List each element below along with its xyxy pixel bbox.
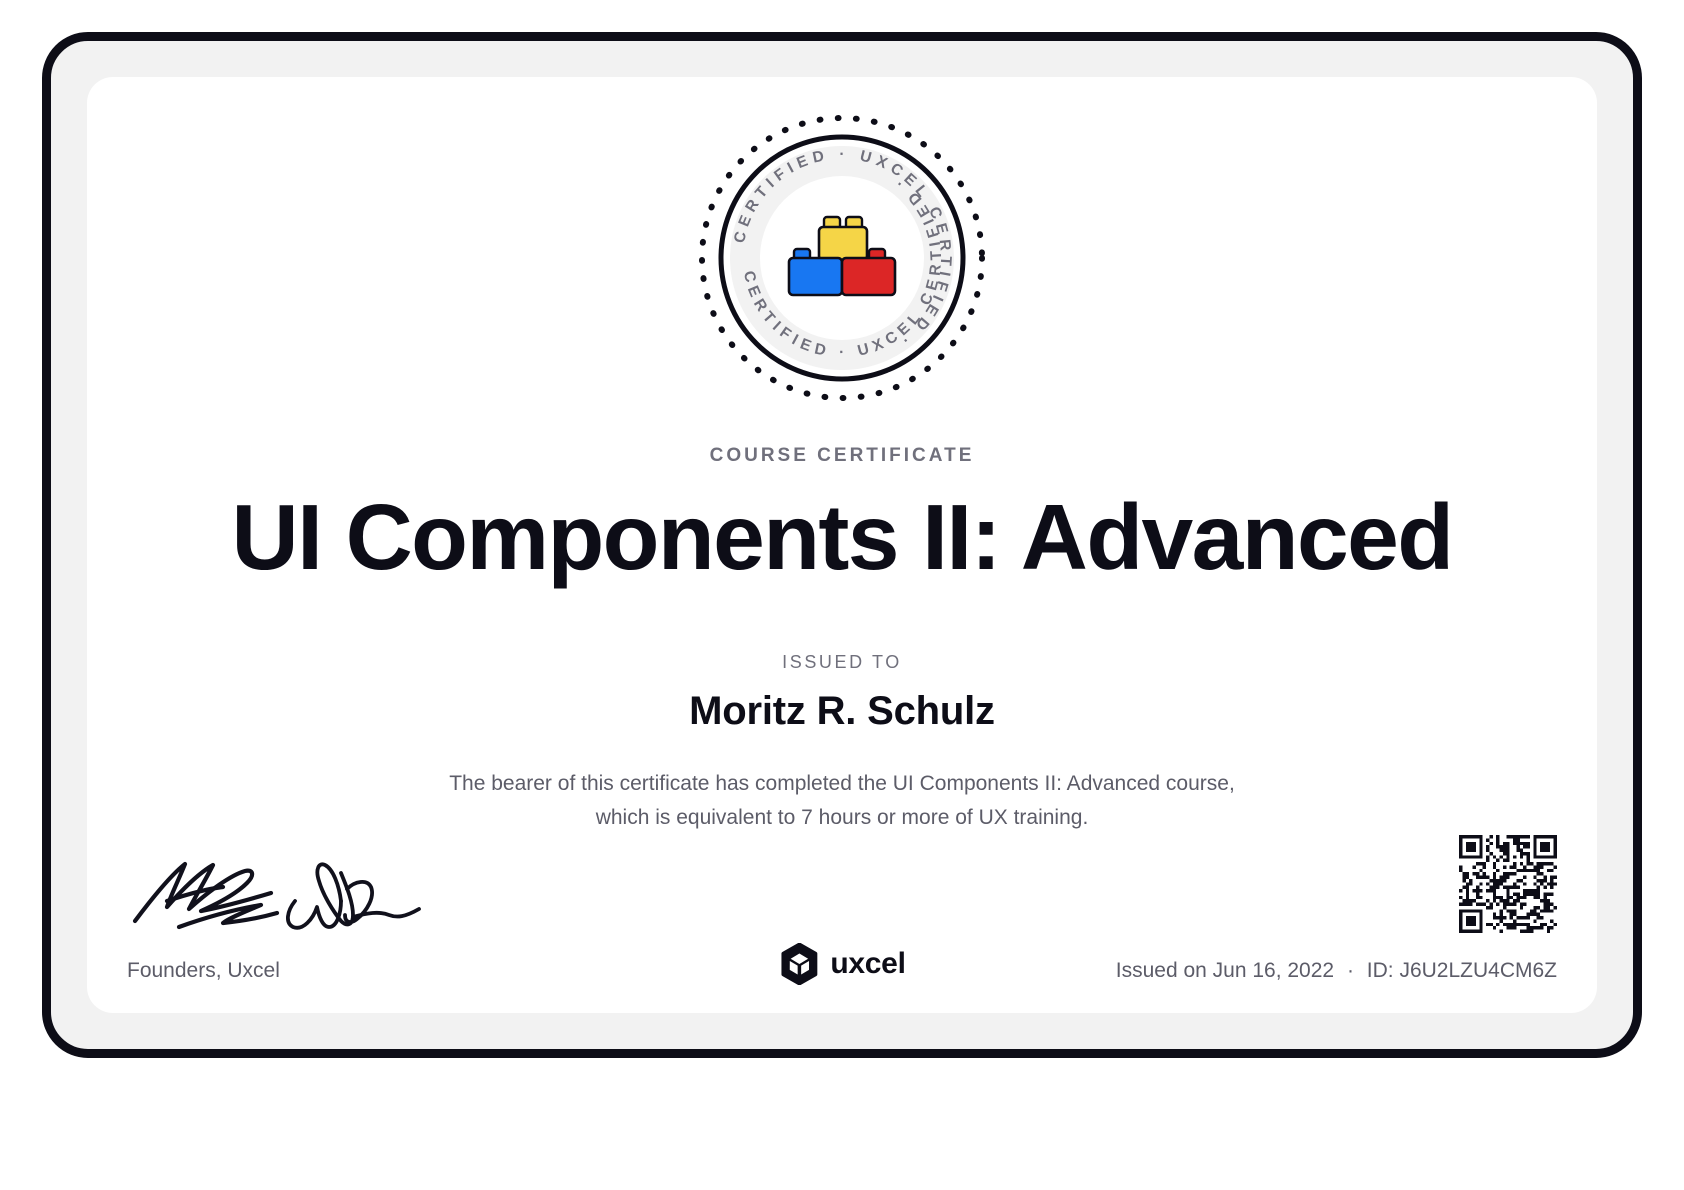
certificate-frame: UXCEL CERTIFIED · UXCEL CERTIFIED · UXCE…	[42, 32, 1642, 1058]
uxcel-brand-logo: uxcel	[778, 943, 905, 985]
uxcel-hexagon-cube-logo	[778, 943, 820, 985]
signature-caption: Founders, Uxcel	[127, 959, 280, 983]
issue-date: Issued on Jun 16, 2022	[1116, 959, 1334, 982]
issued-to-label: ISSUED TO	[87, 652, 1597, 673]
certificate-description: The bearer of this certificate has compl…	[442, 767, 1242, 835]
recipient-name: Moritz R. Schulz	[87, 689, 1597, 734]
certificate-card: UXCEL CERTIFIED · UXCEL CERTIFIED · UXCE…	[87, 77, 1597, 1013]
issue-metadata: Issued on Jun 16, 2022 · ID: J6U2LZU4CM6…	[1116, 959, 1557, 983]
signature-two	[288, 864, 419, 927]
uxcel-brand-name: uxcel	[830, 947, 905, 981]
certificate-id: ID: J6U2LZU4CM6Z	[1367, 959, 1557, 982]
founder-signatures	[127, 839, 427, 931]
verification-qr-code[interactable]	[1459, 835, 1557, 933]
course-title: UI Components II: Advanced	[87, 487, 1597, 587]
meta-separator: ·	[1340, 959, 1361, 982]
certificate-type-label: COURSE CERTIFICATE	[87, 445, 1597, 467]
uxcel-certified-seal: UXCEL CERTIFIED · UXCEL CERTIFIED · UXCE…	[697, 113, 987, 403]
signature-one	[135, 864, 277, 927]
